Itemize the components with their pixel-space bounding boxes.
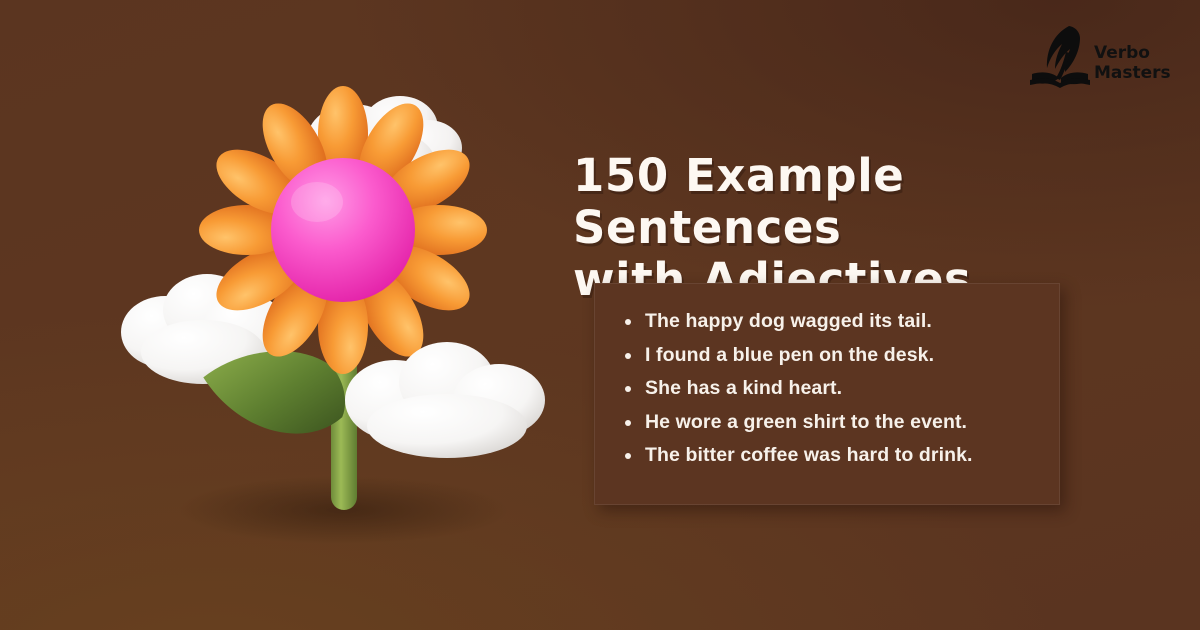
brand-logo[interactable]: Verbo Masters: [1028, 22, 1178, 92]
flower-illustration: [95, 70, 595, 550]
cloud-right: [345, 342, 545, 458]
quill-and-open-book-icon: [1030, 26, 1090, 88]
page-title-line-1: 150 Example Sentences: [573, 150, 1148, 254]
example-sentences-list: The happy dog wagged its tail. I found a…: [595, 284, 1059, 467]
brand-name-line2: Masters: [1094, 63, 1171, 83]
flower-center: [271, 158, 415, 302]
list-item: The happy dog wagged its tail.: [623, 310, 1059, 333]
flower-center-highlight: [291, 182, 343, 222]
brand-name-line1: Verbo: [1094, 43, 1150, 63]
example-sentences-card: The happy dog wagged its tail. I found a…: [594, 283, 1060, 505]
poster-canvas: Verbo Masters 150 Example Sentences with…: [0, 0, 1200, 630]
list-item: The bitter coffee was hard to drink.: [623, 444, 1059, 467]
list-item: I found a blue pen on the desk.: [623, 344, 1059, 367]
list-item: He wore a green shirt to the event.: [623, 411, 1059, 434]
list-item: She has a kind heart.: [623, 377, 1059, 400]
